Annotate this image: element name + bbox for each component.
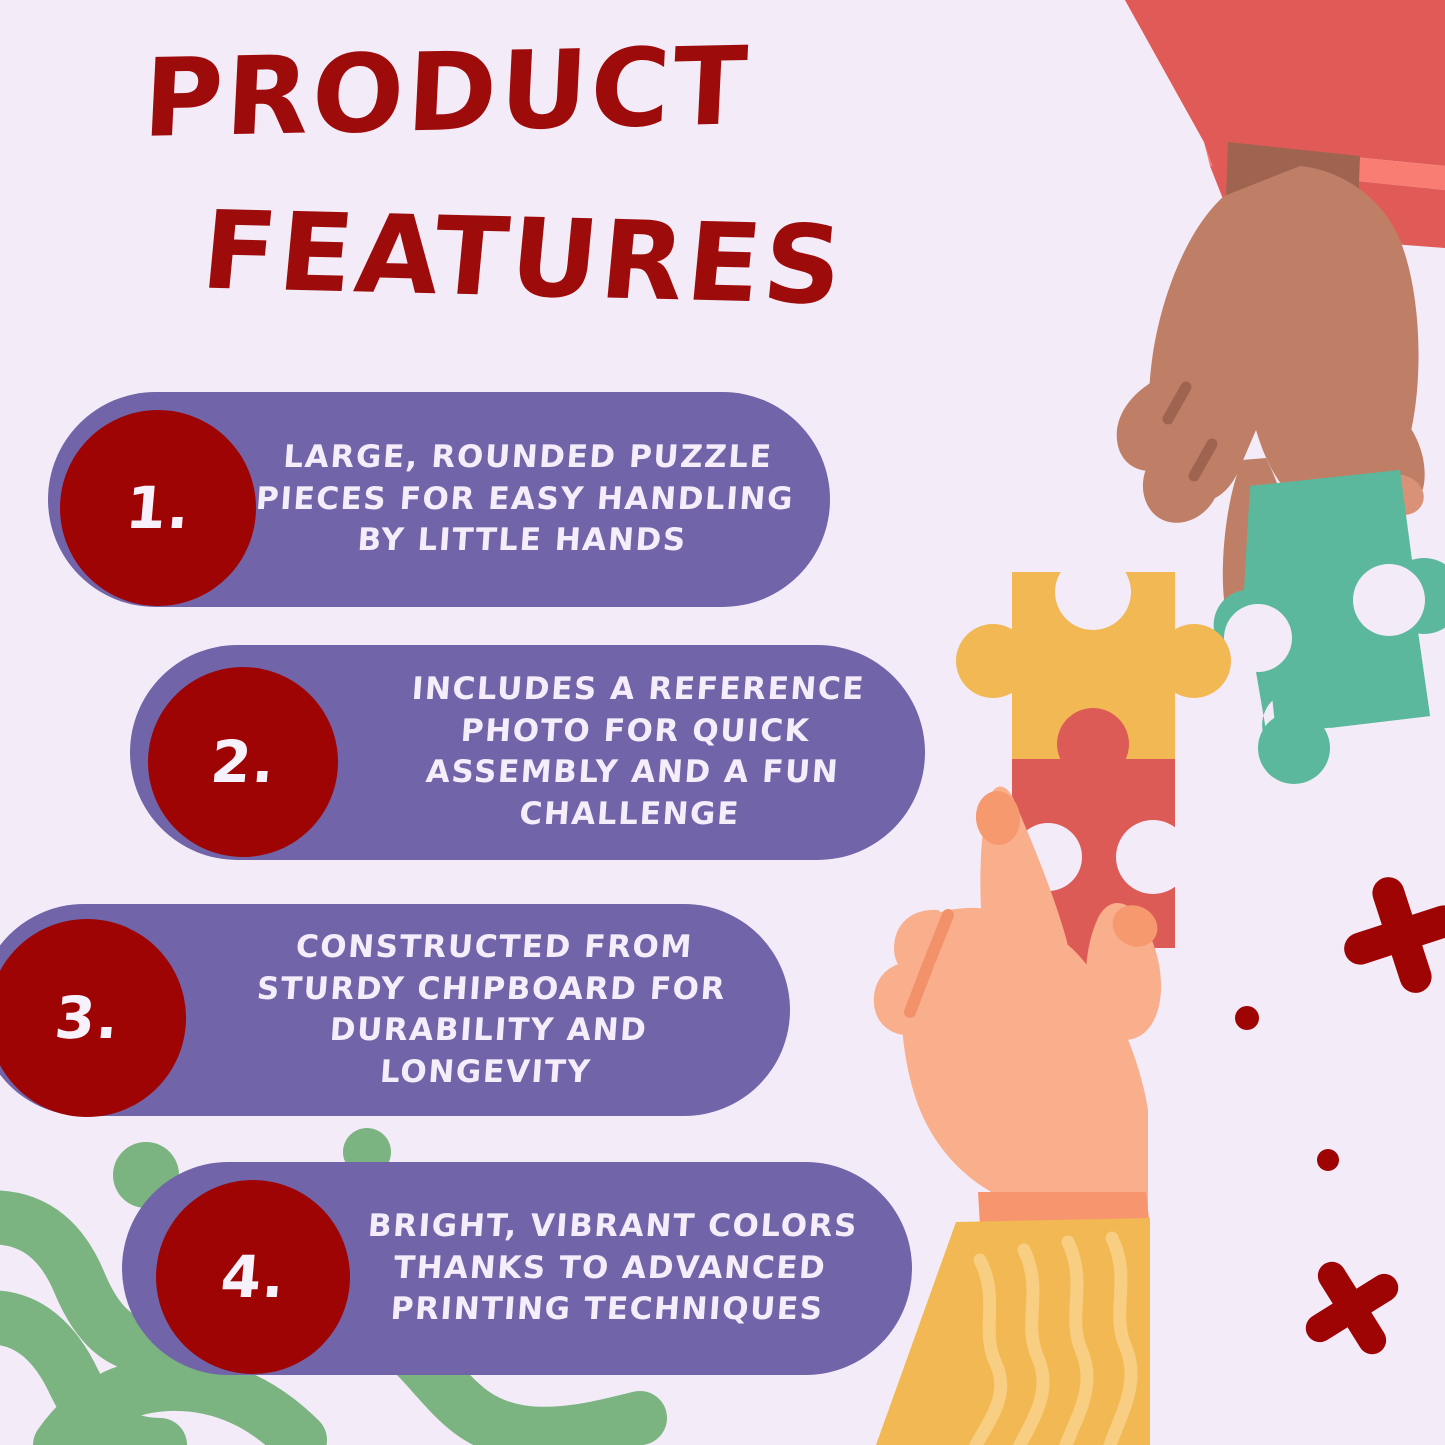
feature-text-2: INCLUDES A REFERENCE PHOTO FOR QUICK ASS… (363, 669, 905, 835)
title-line-product: PRODUCT (141, 30, 903, 154)
red-cross-mark-icon (1280, 1236, 1423, 1379)
feature-list: LARGE, ROUNDED PUZZLE PIECES FOR EASY HA… (0, 392, 940, 1402)
teal-puzzle-piece-icon (1214, 470, 1445, 784)
feature-text-1: LARGE, ROUNDED PUZZLE PIECES FOR EASY HA… (244, 437, 813, 562)
feature-text-3: CONSTRUCTED FROM STURDY CHIPBOARD FOR DU… (224, 927, 756, 1093)
feature-item-2: INCLUDES A REFERENCE PHOTO FOR QUICK ASS… (130, 645, 925, 860)
red-puzzle-piece-icon (1012, 708, 1190, 998)
feature-item-1: LARGE, ROUNDED PUZZLE PIECES FOR EASY HA… (48, 392, 830, 607)
feature-text-4: BRIGHT, VIBRANT COLORS THANKS TO ADVANCE… (326, 1206, 895, 1331)
feature-number-3: 3. (52, 984, 122, 1052)
feature-number-2: 2. (208, 728, 278, 796)
feature-badge-4: 4. (156, 1180, 350, 1374)
dark-hand-icon (1117, 142, 1429, 649)
title-line-features: FEATURES (198, 197, 905, 322)
feature-number-1: 1. (123, 474, 193, 542)
feature-badge-1: 1. (60, 410, 256, 606)
poster-canvas: PRODUCT FEATURES LARGE, ROUNDED PUZZLE P… (0, 0, 1445, 1445)
yellow-puzzle-piece-icon (956, 554, 1231, 759)
feature-item-3: CONSTRUCTED FROM STURDY CHIPBOARD FOR DU… (0, 904, 790, 1116)
red-dot-icon (1317, 1149, 1339, 1171)
page-title: PRODUCT FEATURES (140, 38, 900, 314)
red-sleeve-icon (1125, 0, 1445, 248)
feature-badge-2: 2. (148, 667, 338, 857)
red-dot-icon (1235, 1006, 1259, 1030)
feature-item-4: BRIGHT, VIBRANT COLORS THANKS TO ADVANCE… (122, 1162, 912, 1375)
feature-number-4: 4. (218, 1243, 288, 1311)
red-cross-mark-icon (1326, 859, 1445, 1010)
